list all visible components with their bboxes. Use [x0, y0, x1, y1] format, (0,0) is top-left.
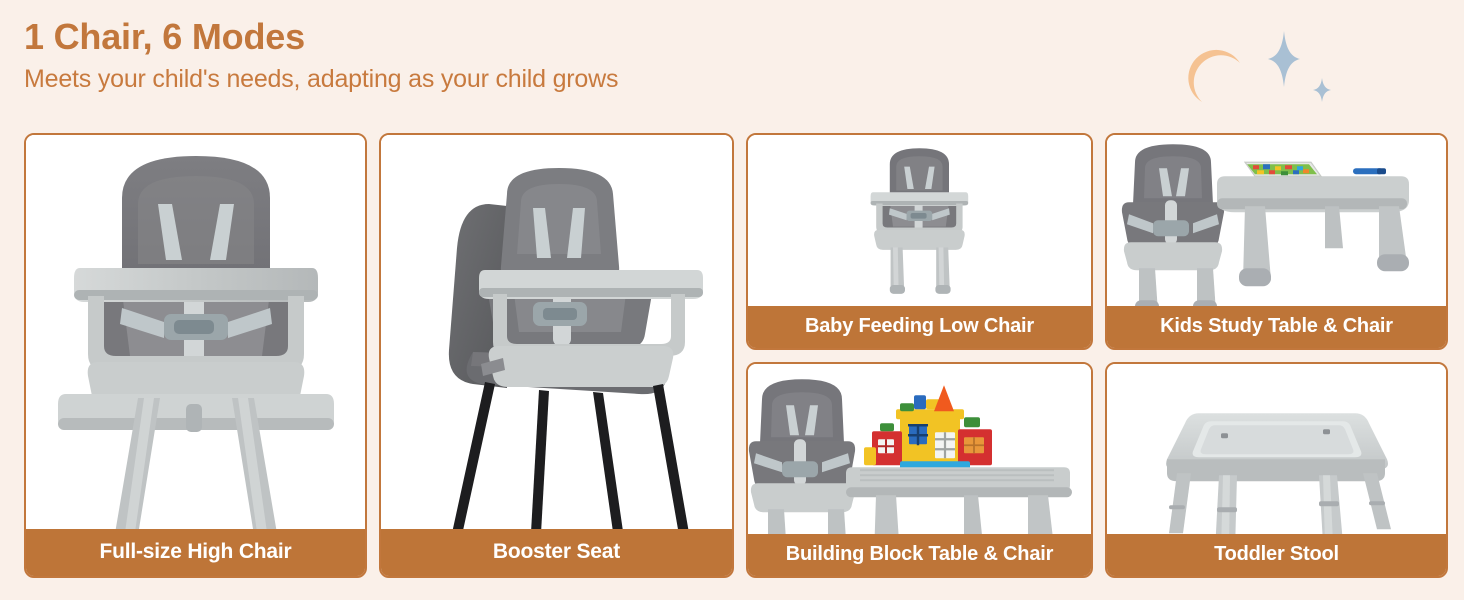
page-subtitle: Meets your child's needs, adapting as yo… — [24, 65, 618, 94]
mode-label-building-block-table-chair: Building Block Table & Chair — [748, 534, 1091, 576]
mode-label-kids-study-table-chair: Kids Study Table & Chair — [1107, 306, 1446, 348]
grid-column-1: Full-size High Chair — [24, 133, 367, 578]
header: 1 Chair, 6 Modes Meets your child's need… — [24, 18, 618, 94]
product-image-toddler-stool — [1107, 364, 1446, 535]
product-image-booster-seat — [381, 135, 732, 529]
product-image-full-size-high-chair — [26, 135, 365, 529]
mode-label-toddler-stool: Toddler Stool — [1107, 534, 1446, 576]
grid-column-3: Baby Feeding Low Chair — [746, 133, 1093, 578]
product-image-kids-study-table-chair — [1107, 135, 1446, 306]
mode-card-toddler-stool[interactable]: Toddler Stool — [1105, 362, 1448, 579]
mode-label-baby-feeding-low-chair: Baby Feeding Low Chair — [748, 306, 1091, 348]
crescent-moon-icon — [1188, 50, 1240, 102]
mode-card-full-size-high-chair[interactable]: Full-size High Chair — [24, 133, 367, 578]
product-image-baby-feeding-low-chair — [748, 135, 1091, 306]
mode-label-full-size-high-chair: Full-size High Chair — [26, 529, 365, 576]
product-image-building-block-table-chair — [748, 364, 1091, 535]
sparkle-star-icon — [1268, 31, 1300, 87]
mode-card-booster-seat[interactable]: Booster Seat — [379, 133, 734, 578]
page-title: 1 Chair, 6 Modes — [24, 18, 618, 57]
mode-card-baby-feeding-low-chair[interactable]: Baby Feeding Low Chair — [746, 133, 1093, 350]
modes-grid: Full-size High Chair — [24, 133, 1440, 578]
infographic-page: 1 Chair, 6 Modes Meets your child's need… — [0, 0, 1464, 600]
grid-column-2: Booster Seat — [379, 133, 734, 578]
sparkle-star-small-icon — [1313, 78, 1331, 102]
decorative-illustration — [1140, 10, 1360, 120]
mode-label-booster-seat: Booster Seat — [381, 529, 732, 576]
grid-column-4: Kids Study Table & Chair — [1105, 133, 1448, 578]
mode-card-kids-study-table-chair[interactable]: Kids Study Table & Chair — [1105, 133, 1448, 350]
mode-card-building-block-table-chair[interactable]: Building Block Table & Chair — [746, 362, 1093, 579]
